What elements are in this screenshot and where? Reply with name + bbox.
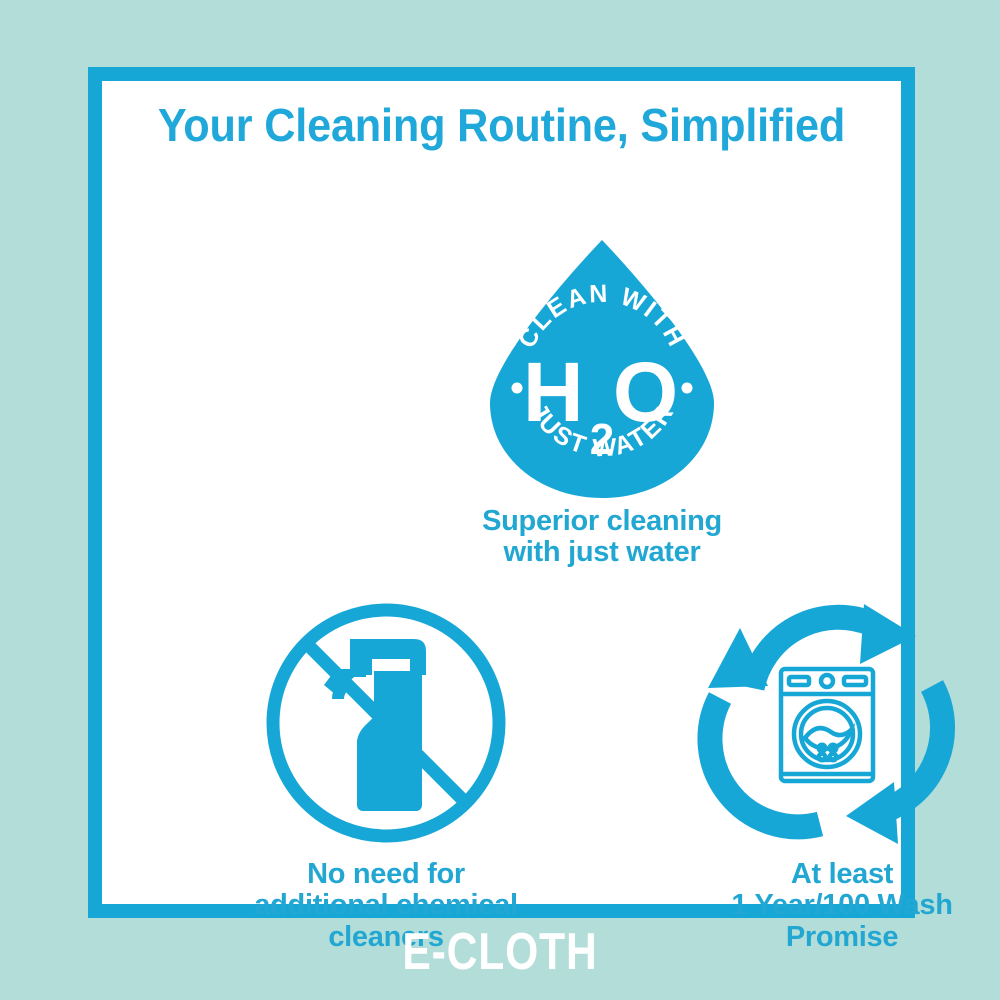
caption-line: At least	[662, 859, 1000, 890]
caption-line: with just water	[390, 537, 814, 568]
caption-line: Superior cleaning	[390, 506, 814, 537]
feature-water-drop-icon: CLEAN WITH JUST WATER H O 2	[490, 238, 714, 500]
caption-line: 1 Year/100 Wash	[662, 890, 1000, 921]
washer-panel-knob	[821, 675, 833, 687]
badge-separator-dot-right	[682, 383, 693, 394]
brand-wordmark: E-CLOTH	[90, 926, 910, 978]
feature-wash-promise-icon	[702, 602, 950, 846]
caption-line: additional chemical	[172, 890, 600, 921]
feature-water-drop-caption: Superior cleaning with just water	[390, 506, 814, 569]
caption-line: No need for	[172, 859, 600, 890]
badge-separator-dot-left	[512, 383, 523, 394]
page-title: Your Cleaning Routine, Simplified	[126, 102, 877, 148]
washer-panel-slot-left	[789, 677, 809, 685]
spray-bottle-overlay	[357, 671, 422, 811]
no-spray-bottle-icon	[262, 599, 510, 847]
poster-canvas: Your Cleaning Routine, Simplified CLEAN …	[0, 0, 1000, 1000]
content-frame: Your Cleaning Routine, Simplified CLEAN …	[88, 67, 915, 918]
cycle-arrowhead-bottom-right	[846, 782, 898, 844]
washing-machine-line-art	[781, 669, 873, 781]
badge-center-subscript: 2	[590, 415, 614, 464]
washing-machine-cycle-icon	[702, 602, 950, 846]
cycle-arc-left	[710, 698, 820, 827]
cycle-arrowhead-top-right	[860, 604, 916, 664]
feature-no-chemicals-icon	[262, 599, 510, 847]
water-drop-h2o-badge-icon: CLEAN WITH JUST WATER H O 2	[490, 238, 714, 500]
cycle-arrows	[708, 604, 943, 844]
washer-panel-slot-right	[844, 677, 866, 685]
